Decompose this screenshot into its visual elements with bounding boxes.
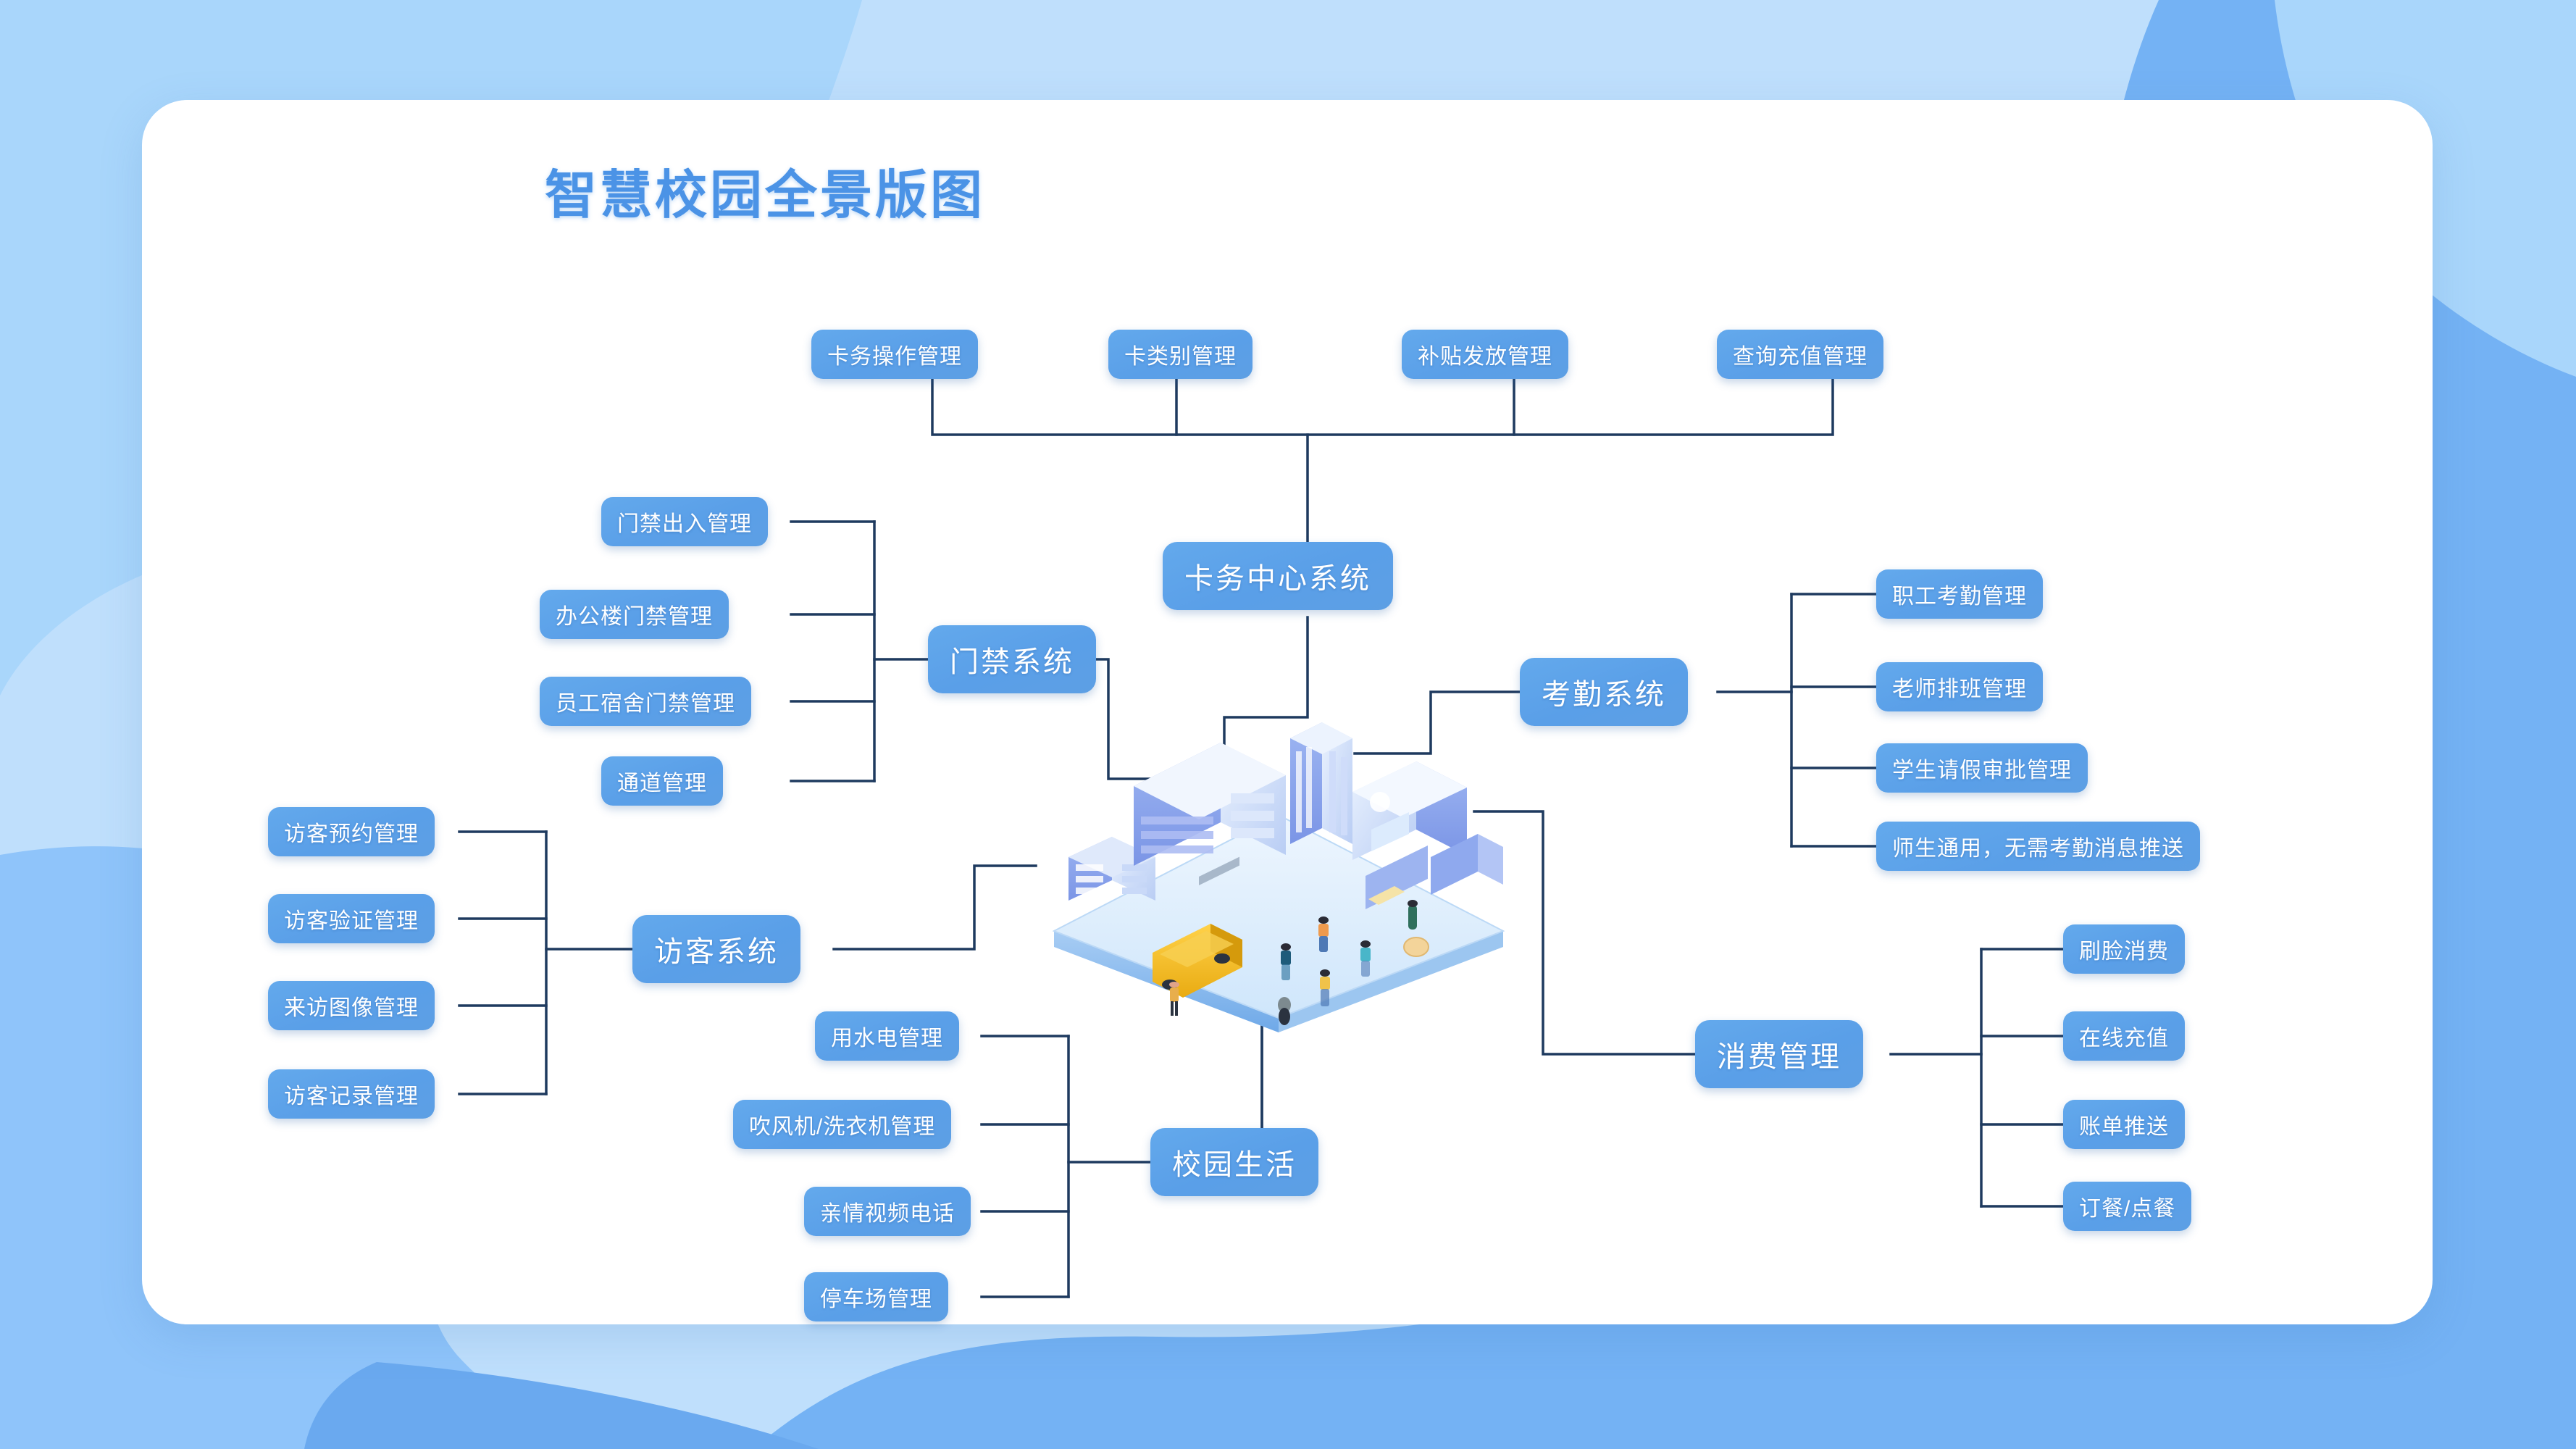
- node-subsidy-management[interactable]: 补贴发放管理: [1402, 330, 1568, 379]
- node-family-video-call[interactable]: 亲情视频电话: [804, 1187, 971, 1236]
- node-online-recharge[interactable]: 在线充值: [2063, 1011, 2185, 1061]
- node-teacher-shift-management[interactable]: 老师排班管理: [1876, 662, 2043, 711]
- node-visitor-appointment-management[interactable]: 访客预约管理: [268, 807, 435, 856]
- node-channel-management[interactable]: 通道管理: [601, 756, 723, 806]
- node-utility-management[interactable]: 用水电管理: [815, 1011, 959, 1061]
- node-bill-push[interactable]: 账单推送: [2063, 1100, 2185, 1149]
- node-card-op-management[interactable]: 卡务操作管理: [811, 330, 978, 379]
- node-card-type-management[interactable]: 卡类别管理: [1108, 330, 1253, 379]
- node-query-recharge-management[interactable]: 查询充值管理: [1717, 330, 1883, 379]
- smart-campus-illustration: [1025, 692, 1532, 1032]
- node-student-leave-approval[interactable]: 学生请假审批管理: [1876, 743, 2088, 793]
- hub-visitor-system[interactable]: 访客系统: [632, 915, 800, 983]
- node-face-payment[interactable]: 刷脸消费: [2063, 924, 2185, 974]
- node-staff-attendance-management[interactable]: 职工考勤管理: [1876, 569, 2043, 619]
- node-meal-ordering[interactable]: 订餐/点餐: [2063, 1182, 2191, 1231]
- node-visitor-verification-management[interactable]: 访客验证管理: [268, 894, 435, 943]
- hub-access-system[interactable]: 门禁系统: [928, 625, 1096, 693]
- page-title: 智慧校园全景版图: [545, 152, 985, 228]
- node-dryer-washer-management[interactable]: 吹风机/洗衣机管理: [733, 1100, 951, 1149]
- hub-campus-life[interactable]: 校园生活: [1150, 1128, 1318, 1196]
- node-parking-management[interactable]: 停车场管理: [804, 1272, 948, 1321]
- node-access-entry-management[interactable]: 门禁出入管理: [601, 497, 768, 546]
- hub-consumption-management[interactable]: 消费管理: [1695, 1020, 1863, 1088]
- node-office-access-management[interactable]: 办公楼门禁管理: [540, 590, 729, 639]
- node-visitor-image-management[interactable]: 来访图像管理: [268, 981, 435, 1030]
- node-staff-dorm-access-management[interactable]: 员工宿舍门禁管理: [540, 677, 751, 726]
- hub-card-center-system[interactable]: 卡务中心系统: [1163, 542, 1393, 610]
- node-visitor-record-management[interactable]: 访客记录管理: [268, 1069, 435, 1119]
- node-attendance-push-notice[interactable]: 师生通用，无需考勤消息推送: [1876, 822, 2200, 871]
- hub-attendance-system[interactable]: 考勤系统: [1520, 658, 1688, 726]
